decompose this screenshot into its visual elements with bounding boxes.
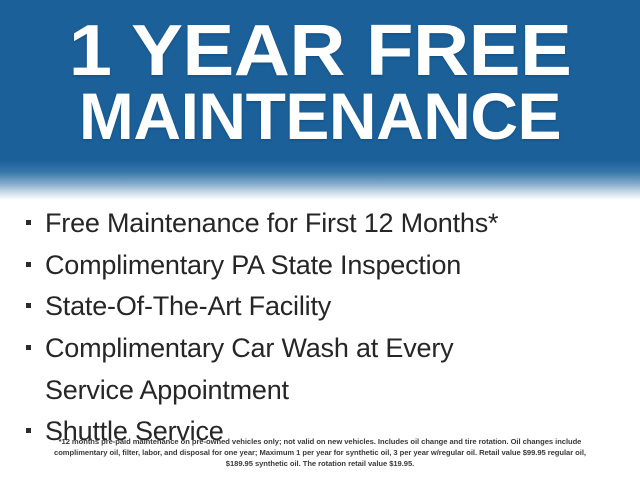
bullet-square-icon [26,428,31,433]
headline-line-1: 1 YEAR FREE [0,18,640,84]
bullet-square-icon [26,262,31,267]
list-item-label: Complimentary Car Wash at Every [45,331,620,367]
offer-list: Free Maintenance for First 12 Months* Co… [20,206,620,456]
bullet-square-icon [26,303,31,308]
disclaimer-text: *12 months pre-paid maintenance on pre-o… [40,436,600,469]
headline-line-2: MAINTENANCE [0,86,640,147]
bullet-square-icon [26,345,31,350]
list-item-label: Service Appointment [45,373,620,409]
list-item: Complimentary PA State Inspection [20,248,620,284]
advertisement-card: 1 YEAR FREE MAINTENANCE Free Maintenance… [0,0,640,480]
bullet-spacer [26,387,31,392]
banner-background: 1 YEAR FREE MAINTENANCE [0,0,640,200]
list-item-label: State-Of-The-Art Facility [45,289,620,325]
bullet-square-icon [26,220,31,225]
list-item-label: Complimentary PA State Inspection [45,248,620,284]
list-item: Complimentary Car Wash at Every [20,331,620,367]
list-item: State-Of-The-Art Facility [20,289,620,325]
headline: 1 YEAR FREE MAINTENANCE [0,0,640,147]
list-item: Free Maintenance for First 12 Months* [20,206,620,242]
list-item-label: Free Maintenance for First 12 Months* [45,206,620,242]
list-item-continuation: Service Appointment [20,373,620,409]
